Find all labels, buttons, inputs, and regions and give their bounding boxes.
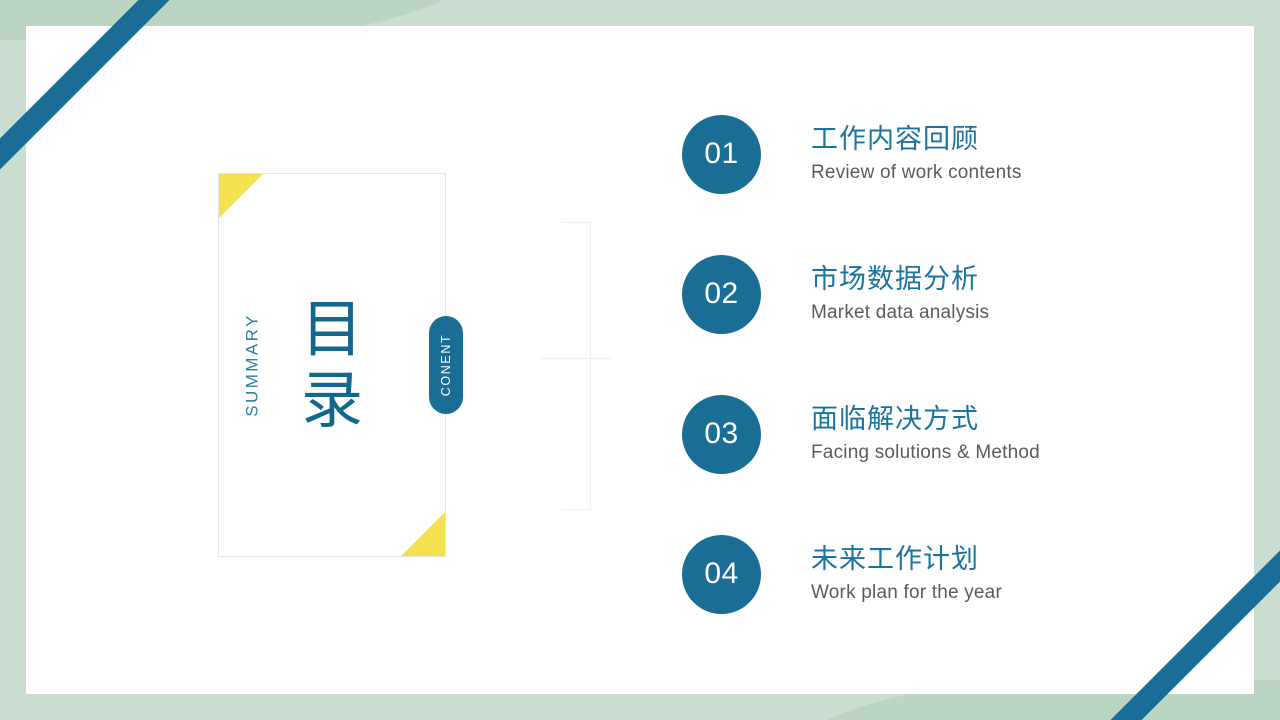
connector-tick-top bbox=[562, 222, 591, 223]
toc-number: 01 bbox=[704, 139, 738, 169]
toc-title-cn: 未来工作计划 bbox=[811, 543, 1002, 577]
toc-item-text: 工作内容回顾 Review of work contents bbox=[811, 123, 1022, 185]
conent-badge-label: CONENT bbox=[439, 334, 453, 396]
toc-title-en: Review of work contents bbox=[811, 161, 1022, 185]
connector-tick-middle bbox=[540, 358, 612, 359]
slide-canvas: SUMMARY 目 录 CONENT 01 工作内容回顾 Review of w… bbox=[0, 0, 1280, 720]
toc-title-en: Facing solutions & Method bbox=[811, 441, 1040, 465]
toc-number-circle: 02 bbox=[682, 255, 761, 334]
toc-list: 01 工作内容回顾 Review of work contents 02 市场数… bbox=[682, 104, 1202, 624]
catalog-heading-cn: 目 录 bbox=[301, 294, 363, 437]
toc-item-03[interactable]: 03 面临解决方式 Facing solutions & Method bbox=[682, 384, 1202, 484]
toc-item-04[interactable]: 04 未来工作计划 Work plan for the year bbox=[682, 524, 1202, 624]
card-corner-triangle-bottom-right-icon bbox=[401, 512, 445, 556]
card-corner-triangle-top-left-icon bbox=[219, 174, 263, 218]
toc-item-02[interactable]: 02 市场数据分析 Market data analysis bbox=[682, 244, 1202, 344]
toc-number: 02 bbox=[704, 279, 738, 309]
toc-title-cn: 面临解决方式 bbox=[811, 403, 1040, 437]
connector-tick-bottom bbox=[562, 509, 591, 510]
toc-item-text: 面临解决方式 Facing solutions & Method bbox=[811, 403, 1040, 465]
toc-item-01[interactable]: 01 工作内容回顾 Review of work contents bbox=[682, 104, 1202, 204]
summary-vertical-label: SUMMARY bbox=[243, 313, 263, 416]
toc-title-cn: 市场数据分析 bbox=[811, 263, 989, 297]
toc-number-circle: 04 bbox=[682, 535, 761, 614]
toc-item-text: 未来工作计划 Work plan for the year bbox=[811, 543, 1002, 605]
toc-number-circle: 01 bbox=[682, 115, 761, 194]
toc-title-cn: 工作内容回顾 bbox=[811, 123, 1022, 157]
toc-number: 04 bbox=[704, 559, 738, 589]
toc-number-circle: 03 bbox=[682, 395, 761, 474]
bracket-connector bbox=[540, 222, 594, 510]
conent-badge: CONENT bbox=[429, 316, 463, 414]
summary-card: SUMMARY 目 录 CONENT bbox=[218, 173, 446, 557]
connector-vertical-line bbox=[590, 222, 591, 510]
toc-title-en: Work plan for the year bbox=[811, 581, 1002, 605]
toc-item-text: 市场数据分析 Market data analysis bbox=[811, 263, 989, 325]
toc-number: 03 bbox=[704, 419, 738, 449]
toc-title-en: Market data analysis bbox=[811, 301, 989, 325]
